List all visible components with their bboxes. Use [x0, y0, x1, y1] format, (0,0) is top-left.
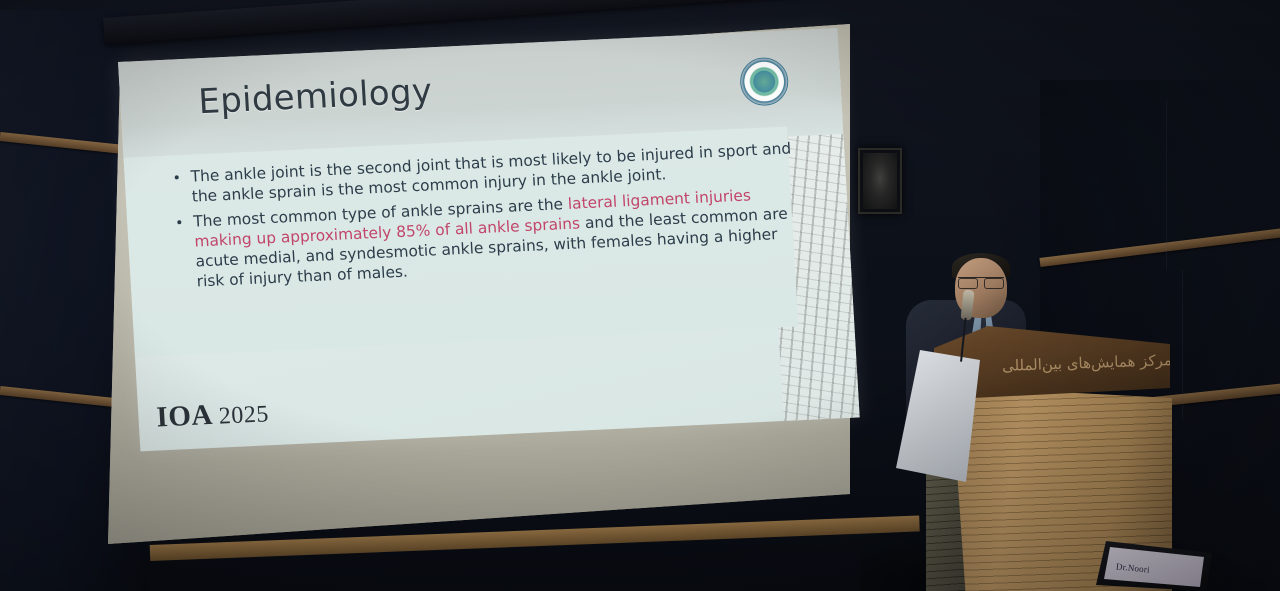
slide-year: 2025: [218, 401, 270, 430]
slide-canvas: Epidemiology The ankle joint is the seco…: [118, 28, 860, 451]
podium-inscription: مرکز همایش‌های بین‌المللی پژوهشگاه صنعت …: [1000, 351, 1173, 381]
projected-slide: Epidemiology The ankle joint is the seco…: [118, 28, 860, 451]
conference-hall-scene: Epidemiology The ankle joint is the seco…: [0, 0, 1280, 591]
glasses-icon: [958, 277, 1004, 287]
ioa-logo: IOA: [156, 399, 214, 435]
slide-footer: IOA 2025: [156, 396, 270, 434]
